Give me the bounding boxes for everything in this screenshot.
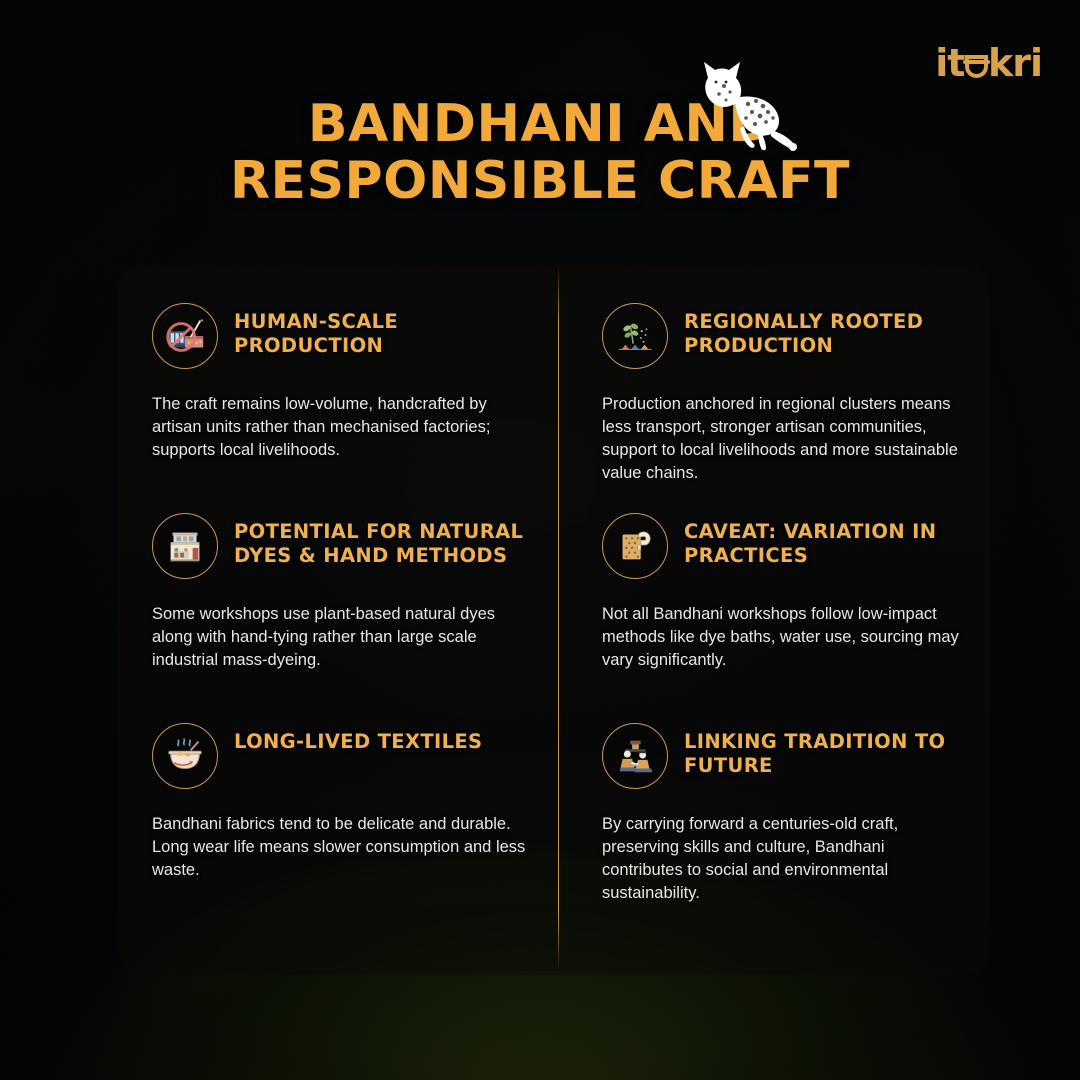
card-title: POTENTIAL FOR NATURAL DYES & HAND METHOD… bbox=[234, 511, 524, 568]
hand-holding-fabric-icon bbox=[602, 513, 668, 579]
no-factory-icon bbox=[152, 303, 218, 369]
card-body: The craft remains low-volume, handcrafte… bbox=[152, 393, 530, 462]
card-title: LINKING TRADITION TO FUTURE bbox=[684, 721, 960, 778]
card-body: Production anchored in regional clusters… bbox=[602, 393, 960, 485]
card-body: By carrying forward a centuries-old craf… bbox=[602, 813, 960, 905]
card-header: CAVEAT: VARIATION IN PRACTICES bbox=[602, 511, 960, 579]
two-artisans-icon bbox=[602, 723, 668, 789]
card-body: Not all Bandhani workshops follow low-im… bbox=[602, 603, 960, 672]
cat-illustration-icon bbox=[688, 56, 806, 152]
card-title: HUMAN-SCALE PRODUCTION bbox=[234, 301, 524, 358]
card-body: Some workshops use plant-based natural d… bbox=[152, 603, 530, 672]
card-natural-dyes-hand-methods: POTENTIAL FOR NATURAL DYES & HAND METHOD… bbox=[118, 511, 558, 721]
workshop-building-icon bbox=[152, 513, 218, 579]
card-human-scale-production: HUMAN-SCALE PRODUCTION The craft remains… bbox=[118, 301, 558, 511]
steaming-dye-pot-icon bbox=[152, 723, 218, 789]
card-linking-tradition-to-future: LINKING TRADITION TO FUTURE By carrying … bbox=[558, 721, 990, 931]
card-header: LINKING TRADITION TO FUTURE bbox=[602, 721, 960, 789]
card-header: LONG-LIVED TEXTILES bbox=[152, 721, 530, 789]
seedling-regional-icon bbox=[602, 303, 668, 369]
card-title: CAVEAT: VARIATION IN PRACTICES bbox=[684, 511, 960, 568]
card-header: POTENTIAL FOR NATURAL DYES & HAND METHOD… bbox=[152, 511, 530, 579]
card-caveat-variation-in-practices: CAVEAT: VARIATION IN PRACTICES Not all B… bbox=[558, 511, 990, 721]
card-body: Bandhani fabrics tend to be delicate and… bbox=[152, 813, 530, 882]
card-header: REGIONALLY ROOTED PRODUCTION bbox=[602, 301, 960, 369]
infographic-canvas: itkri BANDHANI AND RESPONSIBLE CRAFT bbox=[0, 0, 1080, 1080]
brand-logo-itokri[interactable]: itkri bbox=[935, 44, 1042, 82]
cards-grid: HUMAN-SCALE PRODUCTION The craft remains… bbox=[118, 265, 990, 975]
basket-o-icon bbox=[965, 55, 988, 78]
card-title: LONG-LIVED TEXTILES bbox=[234, 721, 482, 754]
card-header: HUMAN-SCALE PRODUCTION bbox=[152, 301, 530, 369]
card-title: REGIONALLY ROOTED PRODUCTION bbox=[684, 301, 960, 358]
card-regionally-rooted-production: REGIONALLY ROOTED PRODUCTION Production … bbox=[558, 301, 990, 511]
card-long-lived-textiles: LONG-LIVED TEXTILES Bandhani fabrics ten… bbox=[118, 721, 558, 931]
